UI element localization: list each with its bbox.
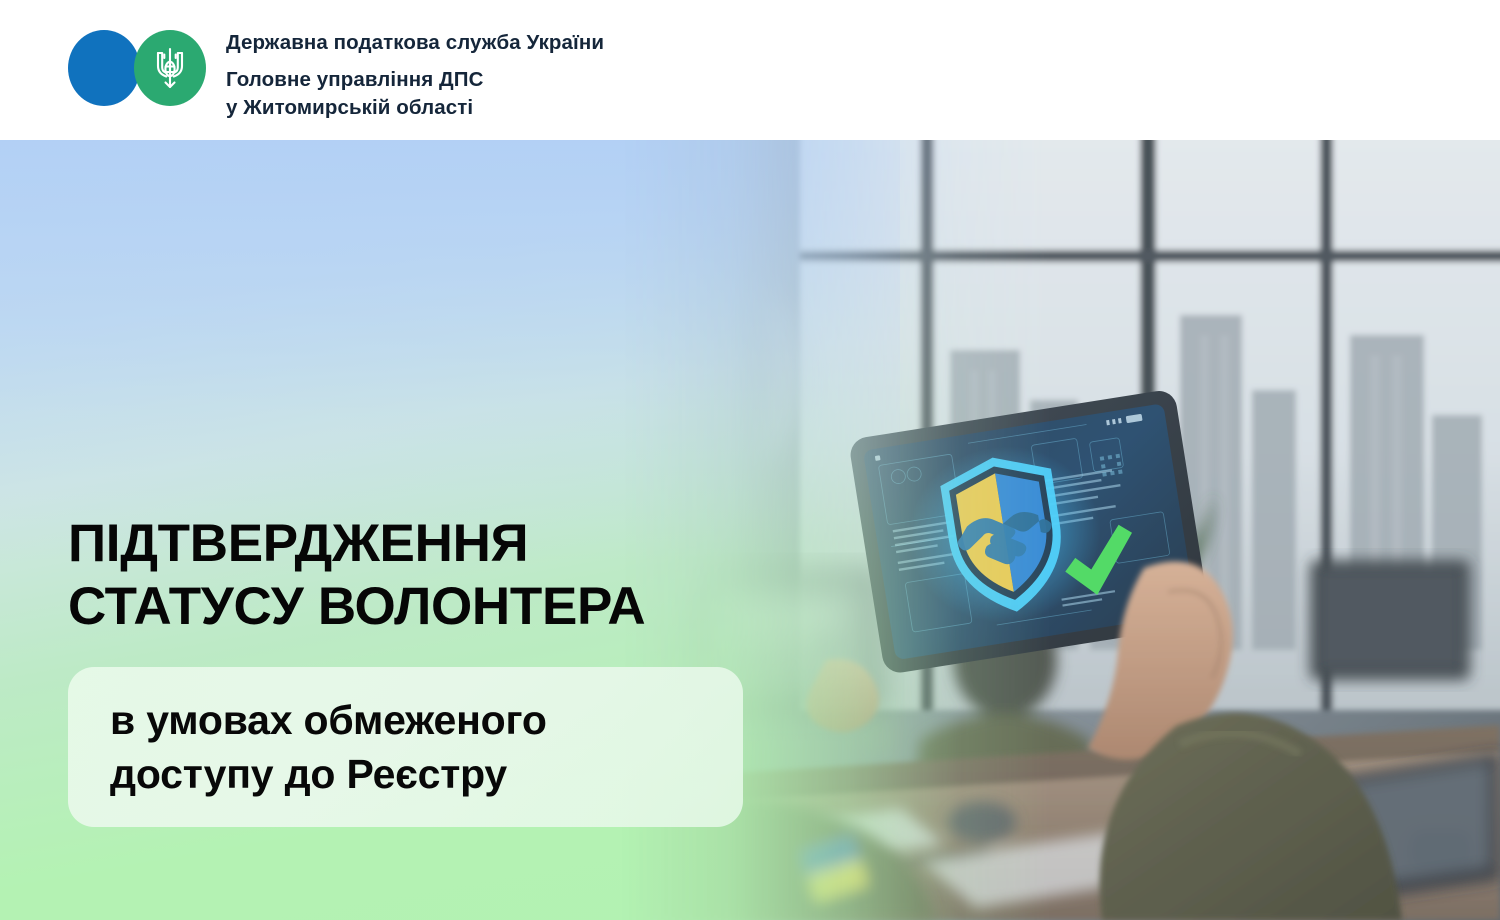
subtitle-line-2: доступу до Реєстру <box>110 747 705 801</box>
banner-canvas: ПІДТВЕРДЖЕННЯ СТАТУСУ ВОЛОНТЕРА в умовах… <box>0 140 1500 920</box>
logo-green-circle-icon <box>134 30 206 106</box>
subtitle-line-1: в умовах обмеженого <box>110 693 705 747</box>
tryzub-icon <box>154 46 186 90</box>
headline-line-2: СТАТУСУ ВОЛОНТЕРА <box>68 575 828 638</box>
org-line-3: у Житомирській області <box>226 94 604 122</box>
org-line-1: Державна податкова служба України <box>226 28 604 58</box>
subtitle-card: в умовах обмеженого доступу до Реєстру <box>68 667 743 827</box>
logo-blue-circle-icon <box>68 30 140 106</box>
banner-image: Державна податкова служба України Головн… <box>0 0 1500 920</box>
page-title: ПІДТВЕРДЖЕННЯ СТАТУСУ ВОЛОНТЕРА <box>68 512 828 638</box>
org-line-2: Головне управління ДПС <box>226 66 604 94</box>
headline-line-1: ПІДТВЕРДЖЕННЯ <box>68 512 828 575</box>
dps-logo <box>68 30 218 106</box>
org-name-block: Державна податкова служба України Головн… <box>226 28 604 122</box>
header-bar: Державна податкова служба України Головн… <box>0 0 1500 140</box>
